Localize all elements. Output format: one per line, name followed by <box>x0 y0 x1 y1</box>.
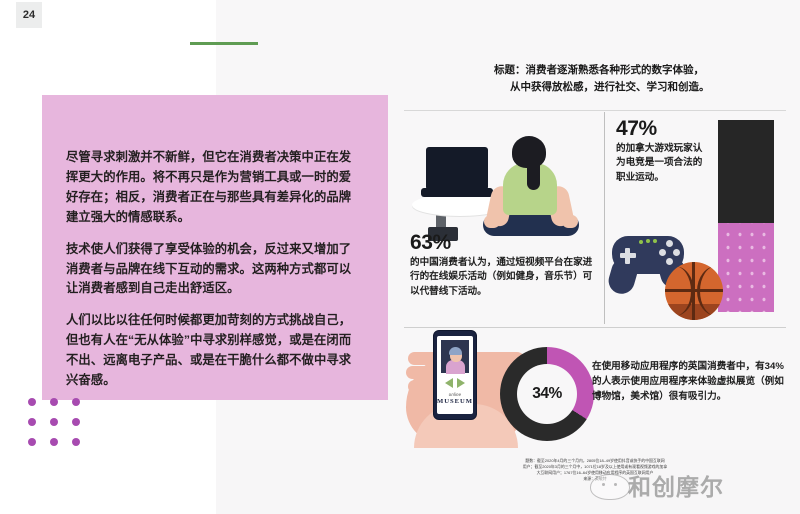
stat-canada-esports: 47% 的加拿大游戏玩家认为电竞是一项合法的职业运动。 <box>616 118 708 185</box>
body-paragraph-3: 人们以比以往任何时候都更加苛刻的方式挑战自己，但也有人在“无从体验”中寻求别样感… <box>66 311 362 391</box>
stat-china-video-text: 的中国消费者认为，通过短视频平台在家进行的在线娱乐活动（例如健身，音乐节）可以代… <box>410 256 596 299</box>
phone-app-sublabel: online <box>437 392 473 397</box>
yoga-woman-ponytail <box>527 158 540 190</box>
yoga-woman-hand-right <box>562 215 578 228</box>
mascot-eye-left <box>602 483 605 486</box>
dot <box>50 418 58 426</box>
controller-led-2 <box>646 239 650 243</box>
headline-line-2: 从中获得放松感，进行社交、学习和创造。 <box>494 79 786 96</box>
controller-button-right <box>673 249 680 256</box>
bar-segment-remainder <box>718 120 774 223</box>
stat-china-video: 63% 的中国消费者认为，通过短视频平台在家进行的在线娱乐活动（例如健身，音乐节… <box>410 232 596 299</box>
divider-vertical <box>604 112 605 324</box>
artwork-figure-body <box>446 360 465 374</box>
dot <box>28 398 36 406</box>
stat-uk-museum-text: 在使用移动应用程序的英国消费者中，有34%的人表示使用应用程序来体验虚拟展览（例… <box>592 360 788 405</box>
dot <box>50 438 58 446</box>
previous-arrow-icon[interactable] <box>445 378 453 388</box>
laptop-base-illustration <box>421 188 493 197</box>
body-paragraph-2: 技术使人们获得了享受体验的机会，反过来又增加了消费者与品牌在线下互动的需求。这两… <box>66 240 362 300</box>
stat-canada-esports-text: 的加拿大游戏玩家认为电竞是一项合法的职业运动。 <box>616 142 708 185</box>
dot <box>28 418 36 426</box>
divider-top <box>404 110 786 111</box>
gallery-nav-controls[interactable] <box>437 378 473 388</box>
bar-chart-esports <box>718 120 774 312</box>
page-number: 24 <box>16 2 42 28</box>
dot <box>50 398 58 406</box>
body-copy: 尽管寻求刺激并不新鲜，但它在消费者决策中正在发挥更大的作用。将不再只是作为营销工… <box>66 148 362 391</box>
dot <box>72 438 80 446</box>
mascot-eye-right <box>614 483 617 486</box>
divider-middle <box>404 327 786 328</box>
controller-led-1 <box>639 240 643 244</box>
dot <box>72 398 80 406</box>
donut-center-value: 34% <box>517 364 577 424</box>
donut-chart-museum: 34% <box>500 347 594 441</box>
phone-app-label: MUSEUM <box>437 398 473 405</box>
controller-button-top <box>666 240 673 247</box>
phone-screen: online MUSEUM <box>437 336 473 414</box>
body-paragraph-1: 尽管寻求刺激并不新鲜，但它在消费者决策中正在发挥更大的作用。将不再只是作为营销工… <box>66 148 362 228</box>
laptop-screen-illustration <box>426 147 488 190</box>
watermark-text: 和创摩尔 <box>628 468 724 502</box>
yoga-woman-hand-left <box>484 215 500 228</box>
bar-segment-value <box>718 223 774 312</box>
stat-china-video-value: 63% <box>410 232 596 253</box>
headline-line-1: 标题：消费者逐渐熟悉各种形式的数字体验， <box>494 64 704 76</box>
artwork-figure-headwrap <box>449 347 462 355</box>
smartphone-illustration: online MUSEUM <box>433 330 477 420</box>
controller-led-3 <box>653 239 657 243</box>
watermark-mascot-icon <box>590 474 630 500</box>
decorative-dot-grid <box>28 398 94 458</box>
dot <box>72 418 80 426</box>
artwork-frame <box>441 340 469 373</box>
controller-dpad-vertical <box>625 248 630 264</box>
headline: 标题：消费者逐渐熟悉各种形式的数字体验， 从中获得放松感，进行社交、学习和创造。 <box>494 62 786 95</box>
next-arrow-icon[interactable] <box>457 378 465 388</box>
controller-button-left <box>659 249 666 256</box>
green-accent-rule <box>190 42 258 45</box>
basketball-icon <box>665 262 723 320</box>
stat-canada-esports-value: 47% <box>616 118 708 139</box>
infographic-page: 24 尽管寻求刺激并不新鲜，但它在消费者决策中正在发挥更大的作用。将不再只是作为… <box>0 0 800 514</box>
dot <box>28 438 36 446</box>
controller-button-bottom <box>666 258 673 265</box>
